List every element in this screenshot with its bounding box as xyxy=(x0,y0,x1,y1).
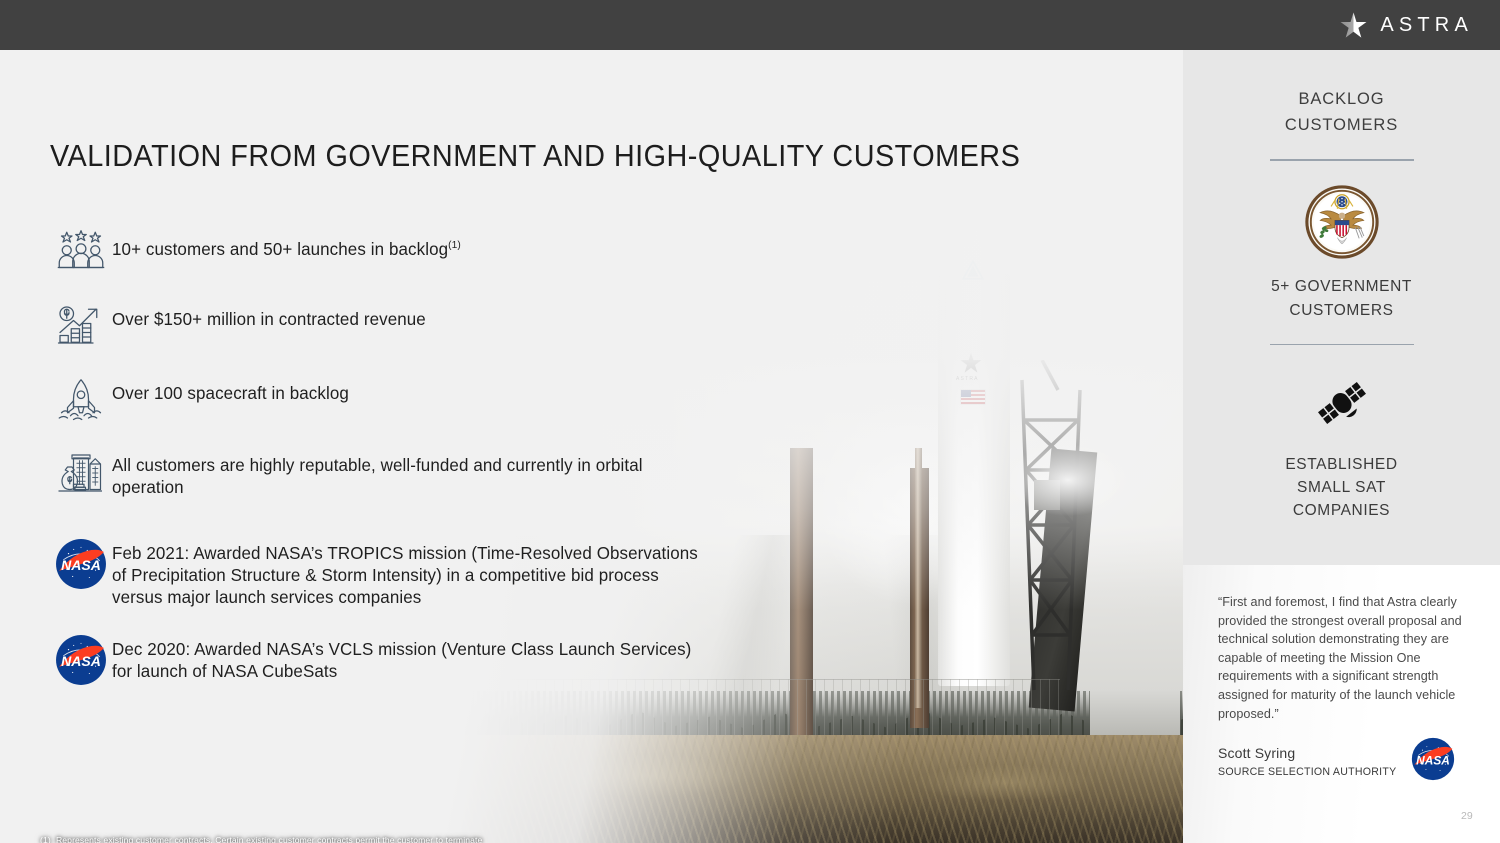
bullet-text: Over $150+ million in contracted revenue xyxy=(112,302,426,330)
revenue-growth-icon xyxy=(57,304,105,346)
bullet-text: Feb 2021: Awarded NASA’s TROPICS mission… xyxy=(112,536,711,608)
bullet-label: Over 100 spacecraft in backlog xyxy=(112,383,349,403)
bullet-text: Dec 2020: Awarded NASA’s VCLS mission (V… xyxy=(112,632,711,682)
astra-wordmark: ASTRA xyxy=(1380,14,1473,37)
bullet-text: Over 100 spacecraft in backlog xyxy=(112,376,349,404)
bullet-icon-wrap: NASA xyxy=(50,536,112,590)
footnote-text: Represents existing customer contracts. … xyxy=(56,835,486,843)
bullet-label: Over $150+ million in contracted revenue xyxy=(112,309,426,329)
nasa-logo-icon: NASA xyxy=(1411,737,1455,781)
page-number: 29 xyxy=(1461,810,1473,822)
quote-panel: “First and foremost, I find that Astra c… xyxy=(1183,565,1500,843)
smallsat-caption-line3: COMPANIES xyxy=(1183,499,1500,522)
backlog-sidebar: BACKLOG CUSTOMERS xyxy=(1183,50,1500,843)
footnote-marker: (1) xyxy=(40,835,56,843)
main-content: ASTRA xyxy=(0,50,1183,843)
slide: ASTRA ASTRA xyxy=(0,0,1500,843)
quote-text: “First and foremost, I find that Astra c… xyxy=(1218,593,1470,723)
smallsat-block xyxy=(1183,373,1500,433)
bullet-item-reputable: All customers are highly reputable, well… xyxy=(50,448,730,502)
top-bar: ASTRA xyxy=(0,0,1500,50)
svg-text:NASA: NASA xyxy=(61,653,101,669)
government-block xyxy=(1183,183,1500,261)
buildings-moneybag-icon xyxy=(57,450,105,496)
sidebar-divider-top xyxy=(1270,159,1414,161)
svg-text:NASA: NASA xyxy=(61,557,101,573)
bullet-item-vcls: NASA Dec 2020: Awarded NASA’s VCLS missi… xyxy=(50,632,730,686)
government-caption-line2: CUSTOMERS xyxy=(1183,299,1500,323)
satellite-icon xyxy=(1301,373,1383,433)
sidebar-heading-line2: CUSTOMERS xyxy=(1183,112,1500,138)
great-seal-icon xyxy=(1303,183,1381,261)
bullet-item-customers: 10+ customers and 50+ launches in backlo… xyxy=(50,228,730,282)
quote-author: Scott Syring xyxy=(1218,745,1295,761)
footnote: (1)Represents existing customer contract… xyxy=(40,835,510,843)
astra-star-icon xyxy=(1340,12,1367,39)
government-caption: 5+ GOVERNMENT CUSTOMERS xyxy=(1183,275,1500,323)
quote-author-role: SOURCE SELECTION AUTHORITY xyxy=(1218,766,1396,778)
bullet-label: Feb 2021: Awarded NASA’s TROPICS mission… xyxy=(112,543,698,607)
sidebar-heading-line1: BACKLOG xyxy=(1183,86,1500,112)
bullet-icon-wrap xyxy=(50,448,112,502)
bullet-icon-wrap xyxy=(50,302,112,356)
government-caption-line1: 5+ GOVERNMENT xyxy=(1183,275,1500,299)
bullet-item-spacecraft: Over 100 spacecraft in backlog xyxy=(50,376,730,430)
sidebar-divider-mid xyxy=(1270,344,1414,346)
astra-logo: ASTRA xyxy=(1340,12,1473,39)
smallsat-caption-line1: ESTABLISHED xyxy=(1183,453,1500,476)
bullet-text: 10+ customers and 50+ launches in backlo… xyxy=(112,228,461,260)
rocket-launch-icon xyxy=(57,378,105,422)
customers-stars-icon xyxy=(57,230,105,272)
bullet-icon-wrap xyxy=(50,228,112,282)
bullet-text: All customers are highly reputable, well… xyxy=(112,448,711,498)
bullet-label: All customers are highly reputable, well… xyxy=(112,455,643,497)
nasa-logo-icon: NASA xyxy=(55,634,107,686)
smallsat-caption-line2: SMALL SAT xyxy=(1183,476,1500,499)
bullet-list: 10+ customers and 50+ launches in backlo… xyxy=(50,228,730,706)
bullet-label: 10+ customers and 50+ launches in backlo… xyxy=(112,239,448,259)
svg-text:NASA: NASA xyxy=(1416,753,1450,767)
page-title: VALIDATION FROM GOVERNMENT AND HIGH-QUAL… xyxy=(50,138,1020,174)
bullet-label: Dec 2020: Awarded NASA’s VCLS mission (V… xyxy=(112,639,691,681)
footnote-ref: (1) xyxy=(448,239,461,251)
bullet-icon-wrap: NASA xyxy=(50,632,112,686)
sidebar-heading: BACKLOG CUSTOMERS xyxy=(1183,86,1500,138)
nasa-logo-icon: NASA xyxy=(55,538,107,590)
smallsat-caption: ESTABLISHED SMALL SAT COMPANIES xyxy=(1183,453,1500,522)
bullet-item-revenue: Over $150+ million in contracted revenue xyxy=(50,302,730,356)
bullet-icon-wrap xyxy=(50,376,112,430)
bullet-item-tropics: NASA Feb 2021: Awarded NASA’s TROPICS mi… xyxy=(50,536,730,608)
